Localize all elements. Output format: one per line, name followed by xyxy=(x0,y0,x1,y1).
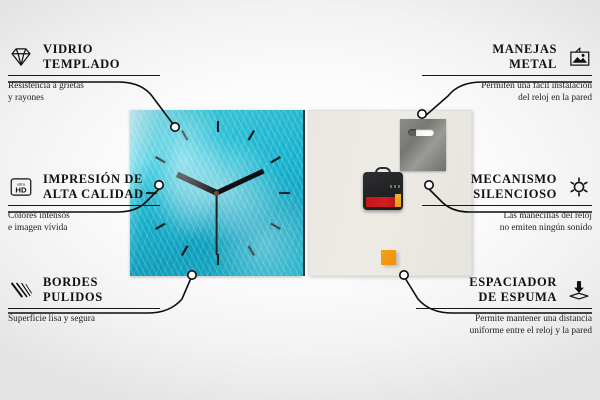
mechanism-hanging-loop xyxy=(375,167,391,175)
callout-rule xyxy=(8,205,160,206)
svg-text:HD: HD xyxy=(15,185,27,194)
callout-description: Permite mantener una distancia uniforme … xyxy=(416,313,592,337)
clock-tick-4 xyxy=(270,223,281,230)
clock-tick-3 xyxy=(279,192,290,194)
mechanism-red-label xyxy=(366,197,400,207)
callout-vidrio-templado: VIDRIO TEMPLADO Resistencia a grietas y … xyxy=(8,42,160,104)
clock-hour-hand xyxy=(175,172,217,196)
diamond-icon xyxy=(8,45,34,69)
foam-spacer-icon xyxy=(566,278,592,302)
callout-description: Superficie lisa y segura xyxy=(8,313,160,325)
clock-center-cap xyxy=(214,191,219,196)
clock-mechanism xyxy=(363,172,403,210)
clock-minute-hand xyxy=(215,169,264,196)
clock-tick-10 xyxy=(155,156,166,163)
callout-bordes-pulidos: BORDES PULIDOS Superficie lisa y segura xyxy=(8,275,160,325)
callout-manejas-metal: MANEJAS METAL Permiten una fácil instala… xyxy=(422,42,592,104)
clock-tick-7 xyxy=(181,245,188,256)
clock-tick-1 xyxy=(247,130,254,141)
callout-rule xyxy=(422,205,592,206)
callout-title: VIDRIO TEMPLADO xyxy=(43,42,120,72)
polished-edges-icon xyxy=(8,278,34,302)
callout-rule xyxy=(422,75,592,76)
callout-title: BORDES PULIDOS xyxy=(43,275,103,305)
callout-description: Permiten una fácil instalación del reloj… xyxy=(422,80,592,104)
ultra-hd-icon: ultra HD xyxy=(8,175,34,199)
callout-title: MECANISMO SILENCIOSO xyxy=(471,172,557,202)
clock-tick-2 xyxy=(270,156,281,163)
picture-hanger-icon xyxy=(566,45,592,69)
clock-second-hand xyxy=(216,193,218,255)
callout-title: ESPACIADOR DE ESPUMA xyxy=(469,275,557,305)
callout-rule xyxy=(8,75,160,76)
mechanism-contacts xyxy=(390,185,400,188)
clock-tick-6 xyxy=(217,254,219,265)
callout-espaciador-espuma: ESPACIADOR DE ESPUMA Permite mantener un… xyxy=(416,275,592,337)
hanger-keyhole-slot xyxy=(408,129,434,136)
callout-description: Las manecillas del reloj no emiten ningú… xyxy=(422,210,592,234)
metal-hanger-plate-icon xyxy=(400,119,446,171)
callout-rule xyxy=(8,308,160,309)
callout-impresion-alta-calidad: ultra HD IMPRESIÓN DE ALTA CALIDAD Color… xyxy=(8,172,160,234)
product-image xyxy=(130,110,472,276)
clock-tick-11 xyxy=(181,130,188,141)
callout-description: Resistencia a grietas y rayones xyxy=(8,80,160,104)
callout-rule xyxy=(416,308,592,309)
callout-title: IMPRESIÓN DE ALTA CALIDAD xyxy=(43,172,144,202)
callout-mecanismo-silencioso: MECANISMO SILENCIOSO Las manecillas del … xyxy=(422,172,592,234)
callout-description: Colores intensos e imagen vívida xyxy=(8,210,160,234)
foam-spacer-pad xyxy=(381,250,396,265)
clock-tick-5 xyxy=(247,245,254,256)
callout-title: MANEJAS METAL xyxy=(492,42,557,72)
gear-icon xyxy=(566,175,592,199)
clock-tick-0 xyxy=(217,121,219,132)
